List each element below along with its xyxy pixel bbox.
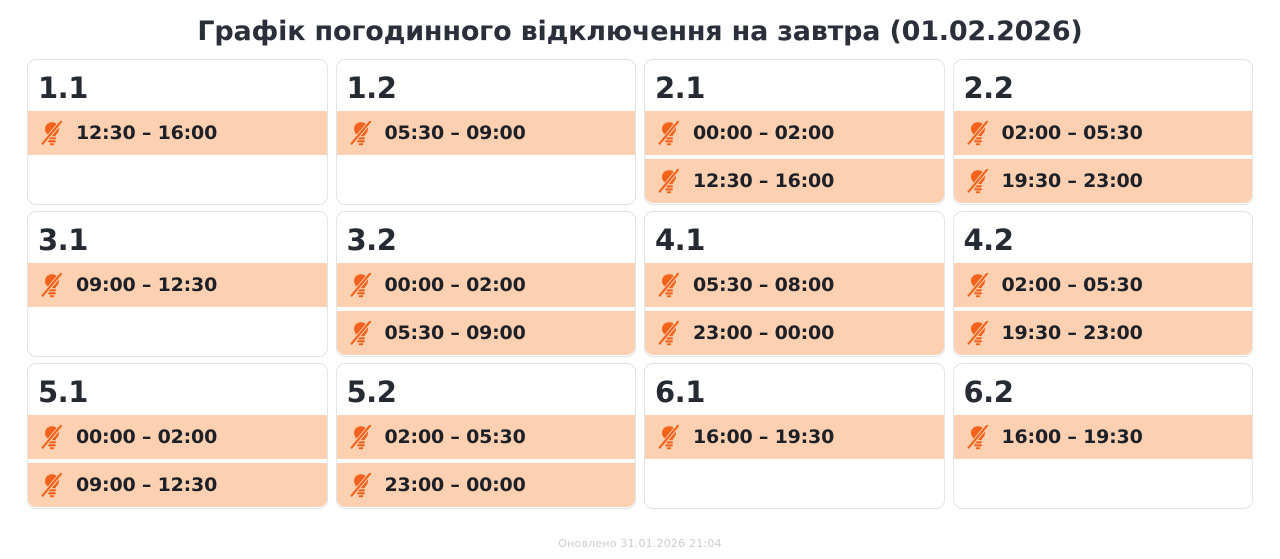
group-card[interactable]: 2.202:00 – 05:3019:30 – 23:00 bbox=[953, 59, 1254, 205]
lightbulb-off-icon bbox=[349, 424, 373, 450]
group-label: 2.2 bbox=[954, 60, 1253, 103]
outage-time-range: 05:30 – 09:00 bbox=[385, 322, 526, 344]
outage-time-range: 05:30 – 08:00 bbox=[693, 274, 834, 296]
outage-slot-list: 02:00 – 05:3019:30 – 23:00 bbox=[954, 263, 1253, 355]
outage-slot[interactable]: 02:00 – 05:30 bbox=[954, 263, 1253, 307]
lightbulb-off-icon bbox=[40, 472, 64, 498]
group-label: 1.1 bbox=[28, 60, 327, 103]
outage-slot[interactable]: 16:00 – 19:30 bbox=[954, 415, 1253, 459]
outage-slot[interactable]: 09:00 – 12:30 bbox=[28, 463, 327, 507]
lightbulb-off-icon bbox=[349, 272, 373, 298]
outage-time-range: 09:00 – 12:30 bbox=[76, 274, 217, 296]
outage-schedule-page: Графік погодинного відключення на завтра… bbox=[0, 0, 1280, 559]
lightbulb-off-icon bbox=[966, 424, 990, 450]
outage-time-range: 23:00 – 00:00 bbox=[385, 474, 526, 496]
group-label: 3.1 bbox=[28, 212, 327, 255]
outage-time-range: 00:00 – 02:00 bbox=[385, 274, 526, 296]
group-card[interactable]: 3.109:00 – 12:30 bbox=[27, 211, 328, 357]
outage-slot[interactable]: 00:00 – 02:00 bbox=[337, 263, 636, 307]
group-label: 3.2 bbox=[337, 212, 636, 255]
outage-slot[interactable]: 12:30 – 16:00 bbox=[645, 159, 944, 203]
lightbulb-off-icon bbox=[40, 424, 64, 450]
lightbulb-off-icon bbox=[966, 120, 990, 146]
outage-time-range: 19:30 – 23:00 bbox=[1002, 322, 1143, 344]
lightbulb-off-icon bbox=[40, 272, 64, 298]
lightbulb-off-icon bbox=[657, 320, 681, 346]
outage-slot[interactable]: 23:00 – 00:00 bbox=[645, 311, 944, 355]
lightbulb-off-icon bbox=[349, 472, 373, 498]
outage-slot-list: 00:00 – 02:0012:30 – 16:00 bbox=[645, 111, 944, 203]
outage-slot-list: 16:00 – 19:30 bbox=[645, 415, 944, 459]
outage-slot-list: 05:30 – 09:00 bbox=[337, 111, 636, 155]
outage-slot-list: 02:00 – 05:3019:30 – 23:00 bbox=[954, 111, 1253, 203]
outage-slot[interactable]: 00:00 – 02:00 bbox=[645, 111, 944, 155]
group-card[interactable]: 5.202:00 – 05:3023:00 – 00:00 bbox=[336, 363, 637, 509]
group-label: 4.1 bbox=[645, 212, 944, 255]
outage-slot-list: 16:00 – 19:30 bbox=[954, 415, 1253, 459]
group-label: 6.1 bbox=[645, 364, 944, 407]
outage-time-range: 02:00 – 05:30 bbox=[1002, 122, 1143, 144]
outage-slot-list: 09:00 – 12:30 bbox=[28, 263, 327, 307]
outage-slot-list: 12:30 – 16:00 bbox=[28, 111, 327, 155]
outage-slot[interactable]: 19:30 – 23:00 bbox=[954, 159, 1253, 203]
outage-time-range: 19:30 – 23:00 bbox=[1002, 170, 1143, 192]
lightbulb-off-icon bbox=[657, 272, 681, 298]
lightbulb-off-icon bbox=[966, 272, 990, 298]
group-card[interactable]: 1.112:30 – 16:00 bbox=[27, 59, 328, 205]
lightbulb-off-icon bbox=[657, 424, 681, 450]
outage-time-range: 16:00 – 19:30 bbox=[693, 426, 834, 448]
outage-slot[interactable]: 02:00 – 05:30 bbox=[954, 111, 1253, 155]
outage-slot[interactable]: 05:30 – 08:00 bbox=[645, 263, 944, 307]
outage-time-range: 02:00 – 05:30 bbox=[1002, 274, 1143, 296]
lightbulb-off-icon bbox=[657, 168, 681, 194]
outage-slot[interactable]: 12:30 – 16:00 bbox=[28, 111, 327, 155]
group-card[interactable]: 3.200:00 – 02:0005:30 – 09:00 bbox=[336, 211, 637, 357]
last-updated-text: Оновлено 31.01.2026 21:04 bbox=[0, 537, 1280, 550]
group-label: 6.2 bbox=[954, 364, 1253, 407]
outage-slot[interactable]: 05:30 – 09:00 bbox=[337, 111, 636, 155]
group-label: 5.1 bbox=[28, 364, 327, 407]
outage-time-range: 00:00 – 02:00 bbox=[76, 426, 217, 448]
group-card[interactable]: 4.202:00 – 05:3019:30 – 23:00 bbox=[953, 211, 1254, 357]
outage-slot-list: 00:00 – 02:0009:00 – 12:30 bbox=[28, 415, 327, 507]
group-label: 4.2 bbox=[954, 212, 1253, 255]
outage-time-range: 12:30 – 16:00 bbox=[693, 170, 834, 192]
outage-time-range: 02:00 – 05:30 bbox=[385, 426, 526, 448]
group-label: 2.1 bbox=[645, 60, 944, 103]
group-card[interactable]: 2.100:00 – 02:0012:30 – 16:00 bbox=[644, 59, 945, 205]
outage-time-range: 00:00 – 02:00 bbox=[693, 122, 834, 144]
outage-slot-list: 05:30 – 08:0023:00 – 00:00 bbox=[645, 263, 944, 355]
outage-time-range: 09:00 – 12:30 bbox=[76, 474, 217, 496]
lightbulb-off-icon bbox=[40, 120, 64, 146]
lightbulb-off-icon bbox=[657, 120, 681, 146]
outage-time-range: 23:00 – 00:00 bbox=[693, 322, 834, 344]
outage-slot[interactable]: 02:00 – 05:30 bbox=[337, 415, 636, 459]
group-card[interactable]: 6.116:00 – 19:30 bbox=[644, 363, 945, 509]
outage-slot[interactable]: 16:00 – 19:30 bbox=[645, 415, 944, 459]
group-card[interactable]: 6.216:00 – 19:30 bbox=[953, 363, 1254, 509]
outage-slot-list: 02:00 – 05:3023:00 – 00:00 bbox=[337, 415, 636, 507]
outage-slot[interactable]: 23:00 – 00:00 bbox=[337, 463, 636, 507]
group-card-grid: 1.112:30 – 16:001.205:30 – 09:002.100:00… bbox=[27, 59, 1253, 509]
page-title: Графік погодинного відключення на завтра… bbox=[0, 17, 1280, 47]
outage-time-range: 12:30 – 16:00 bbox=[76, 122, 217, 144]
outage-slot-list: 00:00 – 02:0005:30 – 09:00 bbox=[337, 263, 636, 355]
outage-slot[interactable]: 05:30 – 09:00 bbox=[337, 311, 636, 355]
outage-slot[interactable]: 19:30 – 23:00 bbox=[954, 311, 1253, 355]
outage-time-range: 05:30 – 09:00 bbox=[385, 122, 526, 144]
lightbulb-off-icon bbox=[966, 320, 990, 346]
group-card[interactable]: 4.105:30 – 08:0023:00 – 00:00 bbox=[644, 211, 945, 357]
outage-slot[interactable]: 09:00 – 12:30 bbox=[28, 263, 327, 307]
outage-slot[interactable]: 00:00 – 02:00 bbox=[28, 415, 327, 459]
group-card[interactable]: 5.100:00 – 02:0009:00 – 12:30 bbox=[27, 363, 328, 509]
lightbulb-off-icon bbox=[966, 168, 990, 194]
outage-time-range: 16:00 – 19:30 bbox=[1002, 426, 1143, 448]
lightbulb-off-icon bbox=[349, 120, 373, 146]
lightbulb-off-icon bbox=[349, 320, 373, 346]
group-label: 5.2 bbox=[337, 364, 636, 407]
group-label: 1.2 bbox=[337, 60, 636, 103]
group-card[interactable]: 1.205:30 – 09:00 bbox=[336, 59, 637, 205]
